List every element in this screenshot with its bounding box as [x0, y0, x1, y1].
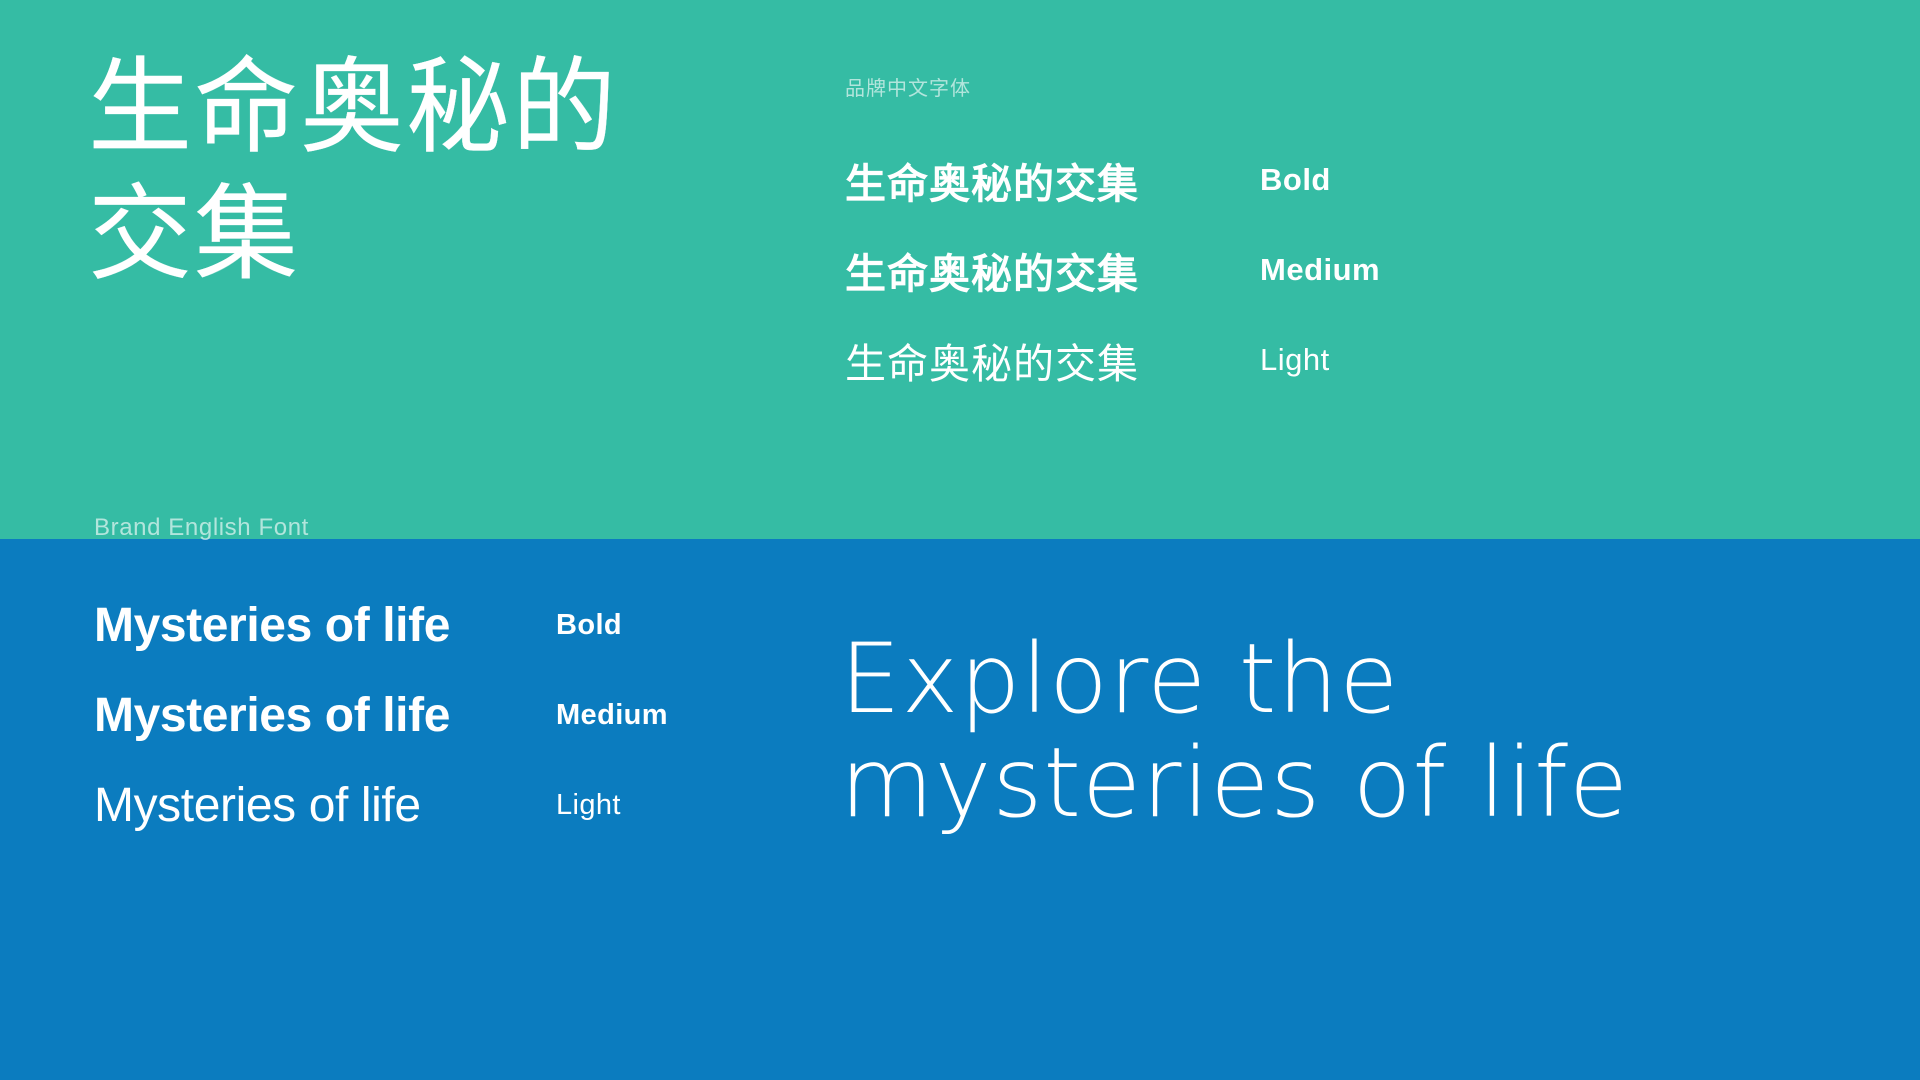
english-sample-medium: Mysteries of life — [94, 688, 556, 743]
chinese-sample-medium: 生命奥秘的交集 — [845, 240, 1260, 300]
english-sample-bold: Mysteries of life — [94, 598, 556, 653]
chinese-section-label: 品牌中文字体 — [845, 72, 971, 101]
english-weight-label-light: Light — [556, 789, 621, 822]
typography-board: 生命奥秘的 交集 品牌中文字体 生命奥秘的交集 Bold 生命奥秘的交集 Med… — [0, 0, 1920, 1080]
english-display-headline: Explore the mysteries of life — [840, 628, 1900, 835]
english-sample-light: Mysteries of life — [94, 778, 556, 833]
english-specimen-list: Mysteries of life Bold Mysteries of life… — [94, 580, 834, 850]
english-section-label: Brand English Font — [94, 514, 309, 542]
chinese-sample-bold: 生命奥秘的交集 — [845, 150, 1260, 210]
chinese-specimen-row-bold: 生命奥秘的交集 Bold — [845, 135, 1545, 225]
english-specimen-row-light: Mysteries of life Light — [94, 760, 834, 850]
chinese-sample-light: 生命奥秘的交集 — [845, 330, 1260, 390]
chinese-specimen-row-light: 生命奥秘的交集 Light — [845, 315, 1545, 405]
english-weight-label-medium: Medium — [556, 699, 668, 732]
english-specimen-row-medium: Mysteries of life Medium — [94, 670, 834, 760]
chinese-specimen-row-medium: 生命奥秘的交集 Medium — [845, 225, 1545, 315]
chinese-weight-label-medium: Medium — [1260, 252, 1380, 288]
chinese-specimen-list: 生命奥秘的交集 Bold 生命奥秘的交集 Medium 生命奥秘的交集 Ligh… — [845, 135, 1545, 405]
chinese-weight-label-bold: Bold — [1260, 162, 1331, 198]
english-specimen-row-bold: Mysteries of life Bold — [94, 580, 834, 670]
chinese-weight-label-light: Light — [1260, 342, 1330, 378]
english-weight-label-bold: Bold — [556, 609, 622, 642]
chinese-hero-heading: 生命奥秘的 交集 — [88, 44, 788, 298]
